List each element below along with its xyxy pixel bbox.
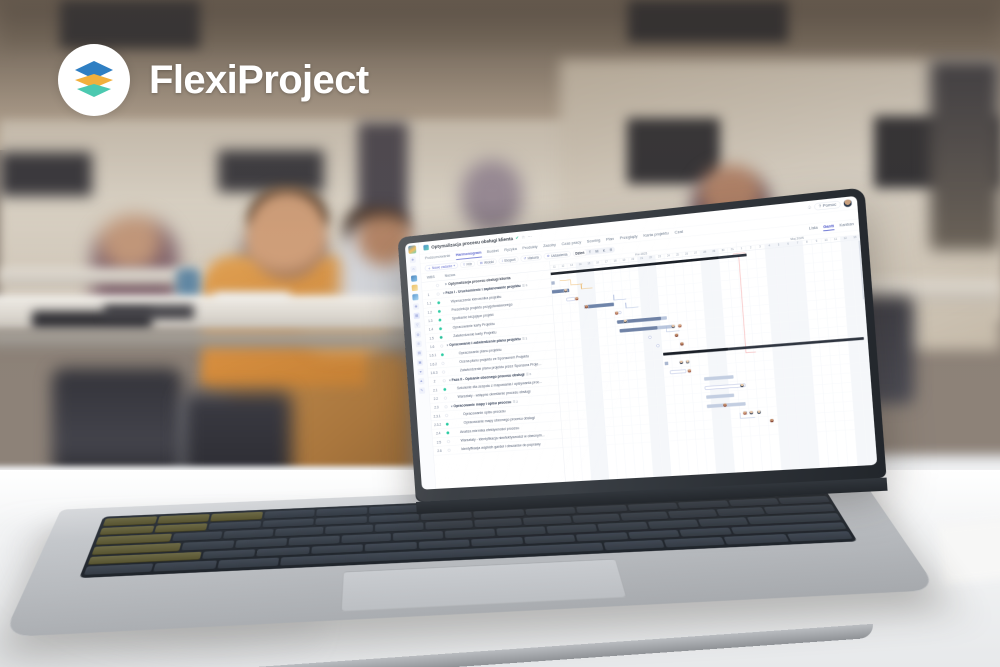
brand-wordmark: FlexiProject (149, 58, 369, 103)
brand-logo: FlexiProject (58, 44, 369, 116)
touchpad[interactable] (340, 559, 627, 612)
stacked-layers-icon (58, 44, 130, 116)
screen-glare (398, 187, 887, 502)
